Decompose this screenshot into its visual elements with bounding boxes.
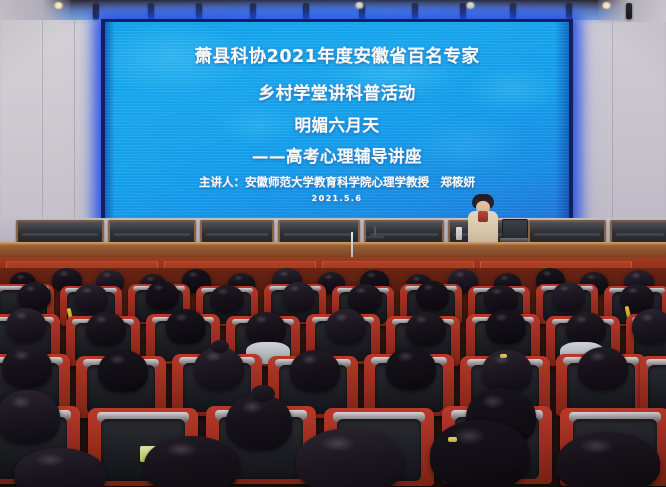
audience-head: [386, 347, 436, 390]
stage-chair: [528, 220, 606, 244]
slide-speaker-line: 主讲人：安徽师范大学教育科学院心理学教授 郑筱妍: [105, 174, 569, 190]
audience-head: [166, 309, 206, 344]
wall-left-panel: [0, 12, 108, 248]
audience-head: [246, 312, 286, 346]
audience-head: [578, 347, 628, 390]
audience-head-foreground: [144, 436, 240, 487]
wall-seam: [612, 12, 613, 248]
ceiling-lamp-icon: [354, 2, 365, 9]
water-cup: [456, 227, 462, 240]
desk-microphone-icon: [366, 226, 384, 240]
slide-title-line-3: 明媚六月天: [105, 112, 569, 136]
audience-head: [326, 309, 366, 344]
audience-head: [348, 284, 382, 312]
audience-head: [566, 312, 606, 346]
wall-right-panel: [568, 12, 666, 248]
laptop: [500, 219, 528, 243]
audience-head: [632, 309, 666, 344]
audience-head-foreground: [556, 432, 660, 487]
audience-head-foreground: [296, 428, 404, 487]
ceiling-lamp-icon: [601, 2, 612, 9]
stage-chair: [278, 220, 360, 244]
audience-head: [2, 346, 52, 388]
audience-head: [406, 312, 446, 346]
audience-head: [210, 285, 244, 313]
slide-content: 萧县科协2021年度安徽省百名专家 乡村学堂讲科普活动 明媚六月天 ——高考心理…: [105, 22, 569, 220]
presenter: [466, 194, 500, 244]
laptop-screen: [502, 219, 528, 240]
audience-area: [0, 268, 666, 487]
audience-head: [0, 390, 60, 444]
ceiling-spotlight-icon: [626, 3, 632, 19]
audience-head: [282, 282, 315, 311]
audience-head: [552, 282, 585, 311]
wall-seam: [74, 12, 75, 248]
slide-title-line-2: 乡村学堂讲科普活动: [105, 79, 569, 104]
stage-table-edge: [0, 242, 666, 245]
audience-head: [18, 282, 51, 310]
stage-chair: [16, 220, 104, 244]
audience-head: [6, 308, 46, 342]
audience-head: [226, 394, 292, 450]
audience-head: [194, 347, 244, 390]
presenter-scarf: [478, 211, 488, 222]
audience-head: [146, 281, 179, 310]
stage-chair: [200, 220, 274, 244]
ceiling-lamp-icon: [465, 2, 476, 9]
slide-subtitle: ——高考心理辅导讲座: [105, 143, 569, 167]
audience-head: [86, 312, 126, 346]
stage-chair: [610, 220, 666, 244]
stage-chair: [108, 220, 196, 244]
audience-head-foreground: [430, 420, 530, 487]
audience-head: [486, 309, 526, 344]
ceiling-lamp-icon: [53, 2, 64, 9]
wall-seam: [42, 12, 43, 248]
audience-head: [482, 350, 532, 392]
audience-head: [416, 281, 449, 310]
presentation-screen: 萧县科协2021年度安徽省百名专家 乡村学堂讲科普活动 明媚六月天 ——高考心理…: [105, 22, 569, 220]
audience-head: [98, 350, 148, 392]
lecture-hall-photo: 萧县科协2021年度安徽省百名专家 乡村学堂讲科普活动 明媚六月天 ——高考心理…: [0, 0, 666, 487]
audience-head: [290, 350, 340, 392]
slide-title-line-1: 萧县科协2021年度安徽省百名专家: [105, 43, 569, 68]
audience-head: [74, 284, 108, 312]
